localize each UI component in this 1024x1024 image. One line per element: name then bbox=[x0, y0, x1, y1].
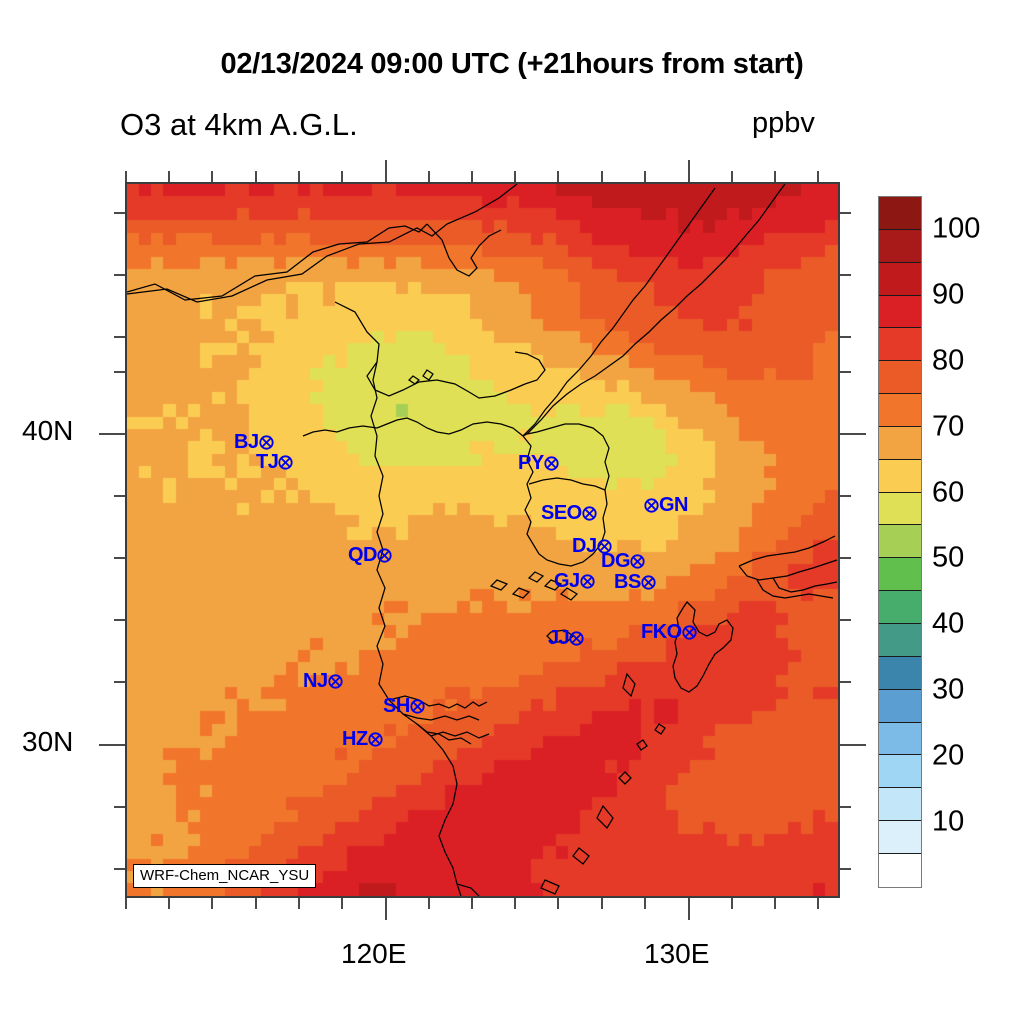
city-marker-fko[interactable]: FKO bbox=[641, 622, 697, 642]
colorbar-band bbox=[879, 197, 921, 230]
y-minor-tick bbox=[114, 806, 125, 808]
x-minor-tick bbox=[514, 898, 516, 909]
x-minor-tick-top bbox=[731, 171, 733, 182]
city-label: GN bbox=[659, 494, 688, 516]
x-minor-tick bbox=[601, 898, 603, 909]
x-minor-tick-top bbox=[644, 171, 646, 182]
map-plot-area: WRF-Chem_NCAR_YSU bbox=[125, 182, 840, 898]
colorbar-band bbox=[879, 328, 921, 361]
x-major-tick bbox=[688, 898, 690, 920]
city-label: NJ bbox=[303, 670, 328, 692]
y-minor-tick bbox=[114, 495, 125, 497]
units-label: ppbv bbox=[752, 107, 815, 140]
y-minor-tick bbox=[114, 557, 125, 559]
city-marker-bj[interactable]: BJ bbox=[234, 432, 274, 452]
city-marker-hz[interactable]: HZ bbox=[342, 729, 383, 749]
city-cross-circle-icon bbox=[259, 435, 274, 450]
x-axis-label: 120E bbox=[341, 938, 406, 970]
x-minor-tick-top bbox=[168, 171, 170, 182]
city-marker-sh[interactable]: SH bbox=[383, 696, 425, 716]
city-label: FKO bbox=[641, 621, 682, 643]
colorbar-tick-label: 60 bbox=[932, 476, 964, 509]
y-minor-tick bbox=[114, 336, 125, 338]
city-label: GJ bbox=[554, 570, 580, 592]
city-marker-seo[interactable]: SEO bbox=[541, 503, 597, 523]
city-marker-jj[interactable]: JJ bbox=[548, 628, 584, 648]
x-minor-tick bbox=[125, 898, 127, 909]
y-minor-tick-right bbox=[840, 681, 851, 683]
x-minor-tick bbox=[298, 898, 300, 909]
y-major-tick-right bbox=[840, 744, 866, 746]
colorbar-band bbox=[879, 591, 921, 624]
city-label: PY bbox=[518, 452, 544, 474]
city-cross-circle-icon bbox=[377, 548, 392, 563]
city-label: BJ bbox=[234, 431, 259, 453]
city-cross-circle-icon bbox=[682, 625, 697, 640]
y-minor-tick bbox=[114, 212, 125, 214]
colorbar-band bbox=[879, 690, 921, 723]
y-minor-tick-right bbox=[840, 868, 851, 870]
x-minor-tick bbox=[211, 898, 213, 909]
colorbar-band bbox=[879, 558, 921, 591]
x-minor-tick bbox=[817, 898, 819, 909]
colorbar-tick-label: 70 bbox=[932, 410, 964, 443]
y-minor-tick-right bbox=[840, 212, 851, 214]
city-cross-circle-icon bbox=[544, 456, 559, 471]
x-minor-tick bbox=[731, 898, 733, 909]
y-major-tick bbox=[99, 433, 125, 435]
city-cross-circle-icon bbox=[580, 574, 595, 589]
city-cross-circle-icon bbox=[368, 732, 383, 747]
x-minor-tick-top bbox=[817, 171, 819, 182]
colorbar-tick-label: 90 bbox=[932, 278, 964, 311]
city-label: DG bbox=[601, 550, 630, 572]
city-marker-gn[interactable]: GN bbox=[644, 495, 688, 515]
city-marker-bs[interactable]: BS bbox=[614, 572, 656, 592]
y-minor-tick bbox=[114, 619, 125, 621]
y-major-tick bbox=[99, 744, 125, 746]
colorbar-tick-label: 10 bbox=[932, 806, 964, 839]
x-minor-tick bbox=[774, 898, 776, 909]
x-minor-tick bbox=[471, 898, 473, 909]
colorbar-band bbox=[879, 263, 921, 296]
x-major-tick-top bbox=[385, 160, 387, 182]
x-minor-tick bbox=[644, 898, 646, 909]
x-minor-tick-top bbox=[341, 171, 343, 182]
colorbar-band bbox=[879, 788, 921, 821]
y-major-tick-right bbox=[840, 433, 866, 435]
y-minor-tick-right bbox=[840, 495, 851, 497]
y-minor-tick-right bbox=[840, 371, 851, 373]
y-axis-label: 30N bbox=[22, 726, 73, 758]
colorbar-tick-label: 30 bbox=[932, 674, 964, 707]
x-minor-tick bbox=[255, 898, 257, 909]
colorbar-band bbox=[879, 624, 921, 657]
colorbar-band bbox=[879, 394, 921, 427]
city-marker-py[interactable]: PY bbox=[518, 453, 559, 473]
colorbar-band bbox=[879, 460, 921, 493]
y-minor-tick bbox=[114, 681, 125, 683]
colorbar-tick-label: 100 bbox=[932, 212, 980, 245]
colorbar-band bbox=[879, 525, 921, 558]
colorbar-band bbox=[879, 493, 921, 526]
y-minor-tick-right bbox=[840, 274, 851, 276]
city-marker-tj[interactable]: TJ bbox=[256, 452, 293, 472]
x-minor-tick-top bbox=[774, 171, 776, 182]
x-minor-tick bbox=[428, 898, 430, 909]
city-cross-circle-icon bbox=[644, 498, 659, 513]
city-marker-dg[interactable]: DG bbox=[601, 551, 645, 571]
x-minor-tick bbox=[341, 898, 343, 909]
colorbar-tick-label: 40 bbox=[932, 608, 964, 641]
city-label: DJ bbox=[572, 535, 597, 557]
x-minor-tick-top bbox=[298, 171, 300, 182]
colorbar-tick-label: 50 bbox=[932, 542, 964, 575]
city-marker-nj[interactable]: NJ bbox=[303, 671, 343, 691]
y-minor-tick-right bbox=[840, 557, 851, 559]
x-major-tick-top bbox=[688, 160, 690, 182]
y-minor-tick bbox=[114, 274, 125, 276]
city-cross-circle-icon bbox=[278, 455, 293, 470]
x-minor-tick-top bbox=[428, 171, 430, 182]
y-minor-tick bbox=[114, 868, 125, 870]
colorbar-band bbox=[879, 657, 921, 690]
y-minor-tick-right bbox=[840, 336, 851, 338]
x-minor-tick-top bbox=[514, 171, 516, 182]
model-watermark: WRF-Chem_NCAR_YSU bbox=[133, 864, 316, 888]
page-title: 02/13/2024 09:00 UTC (+21hours from star… bbox=[0, 48, 1024, 81]
y-minor-tick bbox=[114, 371, 125, 373]
x-minor-tick-top bbox=[211, 171, 213, 182]
colorbar-band bbox=[879, 723, 921, 756]
x-minor-tick-top bbox=[557, 171, 559, 182]
city-label: HZ bbox=[342, 728, 368, 750]
city-cross-circle-icon bbox=[328, 674, 343, 689]
x-minor-tick bbox=[557, 898, 559, 909]
colorbar-band bbox=[879, 361, 921, 394]
city-label: QD bbox=[348, 544, 377, 566]
field-subtitle: O3 at 4km A.G.L. bbox=[120, 107, 358, 143]
x-major-tick bbox=[385, 898, 387, 920]
y-minor-tick-right bbox=[840, 806, 851, 808]
city-marker-gj[interactable]: GJ bbox=[554, 571, 595, 591]
coastline-overlay bbox=[127, 184, 838, 896]
x-minor-tick bbox=[168, 898, 170, 909]
city-label: SEO bbox=[541, 502, 582, 524]
x-minor-tick-top bbox=[255, 171, 257, 182]
colorbar-band bbox=[879, 427, 921, 460]
city-label: BS bbox=[614, 571, 641, 593]
city-cross-circle-icon bbox=[630, 554, 645, 569]
city-cross-circle-icon bbox=[641, 575, 656, 590]
colorbar[interactable] bbox=[878, 196, 922, 888]
x-minor-tick-top bbox=[125, 171, 127, 182]
x-minor-tick-top bbox=[601, 171, 603, 182]
colorbar-band bbox=[879, 854, 921, 887]
city-cross-circle-icon bbox=[410, 699, 425, 714]
city-marker-qd[interactable]: QD bbox=[348, 545, 392, 565]
colorbar-band bbox=[879, 230, 921, 263]
colorbar-tick-label: 80 bbox=[932, 344, 964, 377]
city-cross-circle-icon bbox=[582, 506, 597, 521]
y-axis-label: 40N bbox=[22, 415, 73, 447]
colorbar-band bbox=[879, 296, 921, 329]
colorbar-tick-label: 20 bbox=[932, 740, 964, 773]
city-label: TJ bbox=[256, 451, 278, 473]
x-axis-label: 130E bbox=[644, 938, 709, 970]
colorbar-band bbox=[879, 821, 921, 854]
city-cross-circle-icon bbox=[569, 631, 584, 646]
y-minor-tick-right bbox=[840, 619, 851, 621]
colorbar-band bbox=[879, 755, 921, 788]
x-minor-tick-top bbox=[471, 171, 473, 182]
city-label: JJ bbox=[548, 627, 569, 649]
city-label: SH bbox=[383, 695, 410, 717]
